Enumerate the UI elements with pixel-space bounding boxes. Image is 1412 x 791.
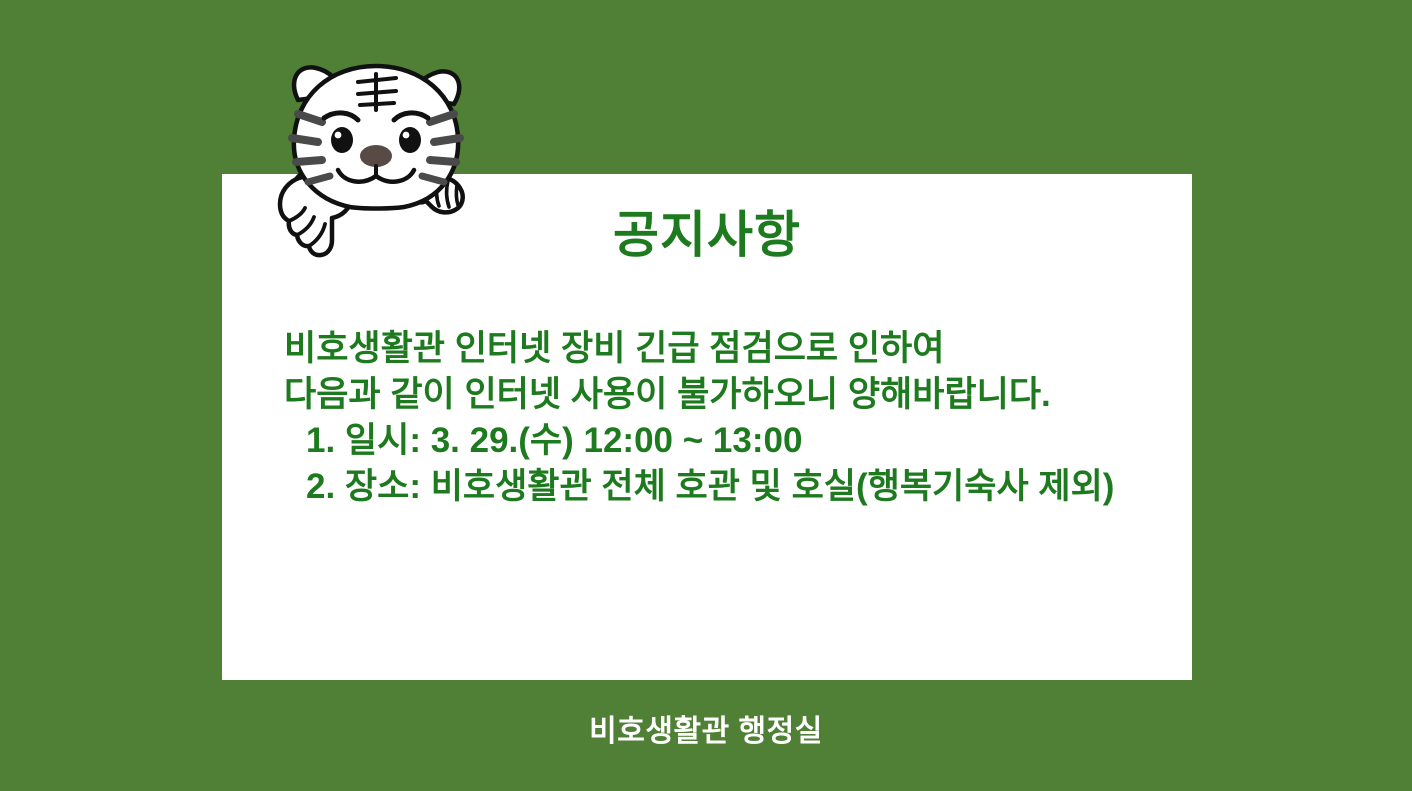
page-title: 공지사항 — [222, 210, 1192, 260]
notice-card: 공지사항 비호생활관 인터넷 장비 긴급 점검으로 인하여 다음과 같이 인터넷… — [222, 174, 1192, 680]
notice-poster: 공지사항 비호생활관 인터넷 장비 긴급 점검으로 인하여 다음과 같이 인터넷… — [0, 0, 1412, 791]
footer-signature: 비호생활관 행정실 — [0, 706, 1412, 750]
notice-body: 비호생활관 인터넷 장비 긴급 점검으로 인하여 다음과 같이 인터넷 사용이 … — [284, 326, 1164, 510]
notice-item-2-location: 2. 장소: 비호생활관 전체 호관 및 호실(행복기숙사 제외) — [284, 464, 1164, 510]
notice-item-1-datetime: 1. 일시: 3. 29.(수) 12:00 ~ 13:00 — [284, 418, 1164, 464]
notice-line-1: 비호생활관 인터넷 장비 긴급 점검으로 인하여 — [284, 326, 1164, 372]
notice-line-2: 다음과 같이 인터넷 사용이 불가하오니 양해바랍니다. — [284, 372, 1164, 418]
